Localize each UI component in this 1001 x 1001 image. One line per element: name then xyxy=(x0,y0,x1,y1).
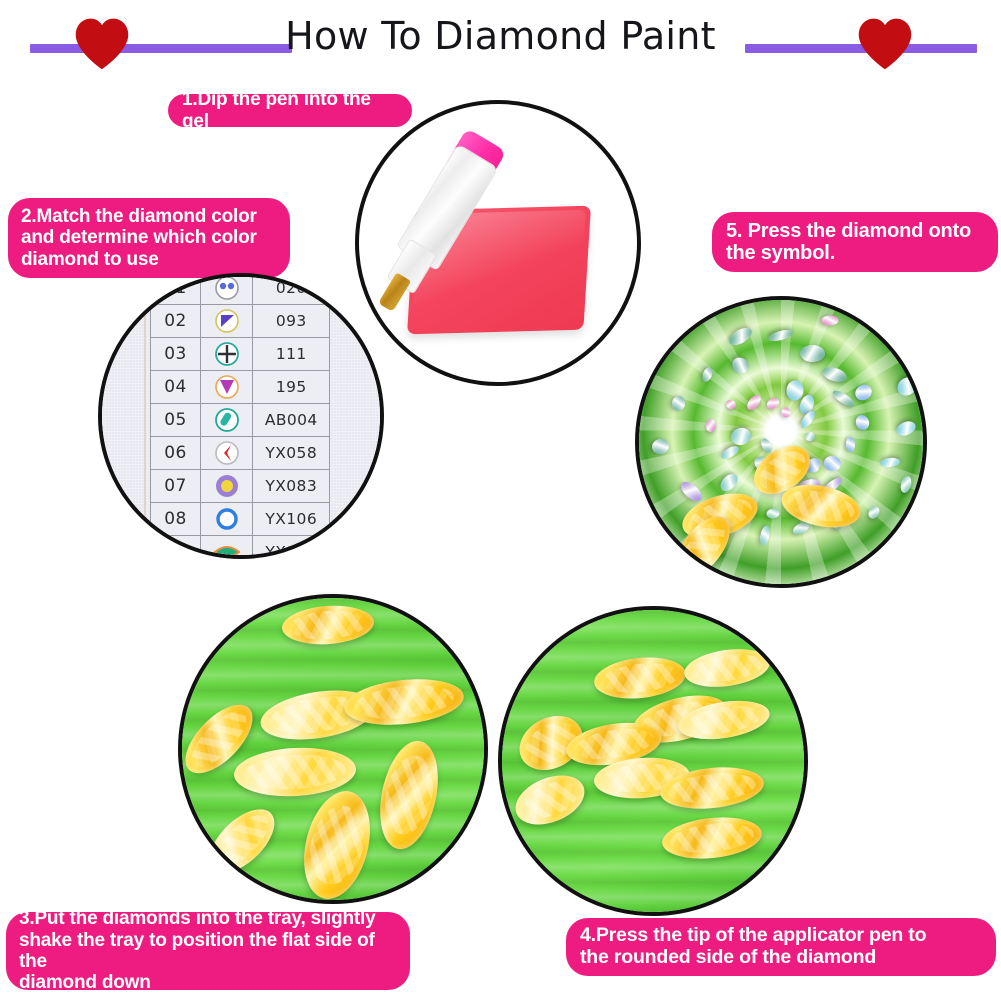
chart-row: 01020 xyxy=(151,273,330,305)
chart-row: 03111 xyxy=(151,338,330,371)
chart-row: 08YX106 xyxy=(151,503,330,536)
chart-cell-code: AB004 xyxy=(253,404,330,437)
chart-cell-code: 111 xyxy=(253,338,330,371)
step-1-photo xyxy=(355,100,641,386)
chart-cell-no: 06 xyxy=(151,437,201,470)
chart-cell-symbol xyxy=(201,305,253,338)
step-2-label: 2.Match the diamond color and determine … xyxy=(8,198,290,278)
chart-cell-no: 09 xyxy=(151,536,201,560)
chart-cell-no: 03 xyxy=(151,338,201,371)
canvas-guide-line xyxy=(144,277,146,559)
pen-tip xyxy=(378,272,411,312)
chart-cell-code: 093 xyxy=(253,305,330,338)
step-3-label-line-1: 3.Put the diamonds into the tray, slight… xyxy=(19,908,397,929)
canvas-gem xyxy=(805,432,815,441)
step-5-label-line-2: the symbol. xyxy=(726,242,984,264)
chart-row: 09YX125 xyxy=(151,536,330,560)
plus-icon xyxy=(212,341,242,367)
triangle-right-icon xyxy=(212,308,242,334)
step-2-label-line-1: 2.Match the diamond color xyxy=(21,206,277,227)
chart-cell-code: YX106 xyxy=(253,503,330,536)
chart-row: 07YX083 xyxy=(151,470,330,503)
ring-open-icon xyxy=(212,506,242,532)
step-5-label-line-1: 5. Press the diamond onto xyxy=(726,220,984,242)
step-4-label-line-2: the rounded side of the diamond xyxy=(580,947,982,969)
step-3-label-line-3: diamond down xyxy=(19,972,397,993)
step-4-label: 4.Press the tip of the applicator pen to… xyxy=(566,918,996,976)
chevron-left-icon xyxy=(212,440,242,466)
chart-cell-code: YX083 xyxy=(253,470,330,503)
page-header: How To Diamond Paint xyxy=(0,0,1001,80)
chart-cell-code: YX125 xyxy=(253,536,330,560)
slash-capsule-icon xyxy=(212,407,242,433)
mandala-canvas xyxy=(639,300,923,584)
chart-cell-no: 05 xyxy=(151,404,201,437)
step-3-label-line-2: shake the tray to position the flat side… xyxy=(19,930,397,973)
chart-cell-code: YX058 xyxy=(253,437,330,470)
step-2-label-line-2: and determine which color xyxy=(21,227,277,248)
chart-cell-symbol xyxy=(201,404,253,437)
circle-double-dot-icon xyxy=(212,275,242,301)
step-3-label: 3.Put the diamonds into the tray, slight… xyxy=(6,912,410,990)
triangle-down-icon xyxy=(212,374,242,400)
step-4-photo xyxy=(498,606,808,916)
chart-cell-no: 01 xyxy=(151,273,201,305)
color-chart-table: 0102002093031110419505AB00406YX05807YX08… xyxy=(150,273,330,559)
canvas-gem xyxy=(800,345,825,362)
step-3-photo xyxy=(178,594,488,904)
dot-filled-icon xyxy=(212,473,242,499)
chart-cell-symbol xyxy=(201,338,253,371)
chart-cell-symbol xyxy=(201,470,253,503)
chart-cell-symbol xyxy=(201,273,253,305)
chart-row: 05AB004 xyxy=(151,404,330,437)
chart-row: 04195 xyxy=(151,371,330,404)
step-2-label-line-3: diamond to use xyxy=(21,249,277,270)
step-4-label-line-1: 4.Press the tip of the applicator pen to xyxy=(580,925,982,947)
step-2-photo: 0102002093031110419505AB00406YX05807YX08… xyxy=(98,273,384,559)
chart-cell-symbol xyxy=(201,437,253,470)
chart-cell-no: 07 xyxy=(151,470,201,503)
chart-cell-code: 020 xyxy=(253,273,330,305)
page-title: How To Diamond Paint xyxy=(0,14,1001,58)
chart-row: 02093 xyxy=(151,305,330,338)
chart-row: 06YX058 xyxy=(151,437,330,470)
step-5-photo xyxy=(635,296,927,588)
step-5-label: 5. Press the diamond onto the symbol. xyxy=(712,212,998,272)
leaf-marquise-icon xyxy=(212,539,242,559)
chart-cell-code: 195 xyxy=(253,371,330,404)
chart-cell-no: 04 xyxy=(151,371,201,404)
chart-cell-symbol xyxy=(201,371,253,404)
chart-cell-no: 08 xyxy=(151,503,201,536)
chart-cell-no: 02 xyxy=(151,305,201,338)
chart-cell-symbol xyxy=(201,536,253,560)
chart-cell-symbol xyxy=(201,503,253,536)
